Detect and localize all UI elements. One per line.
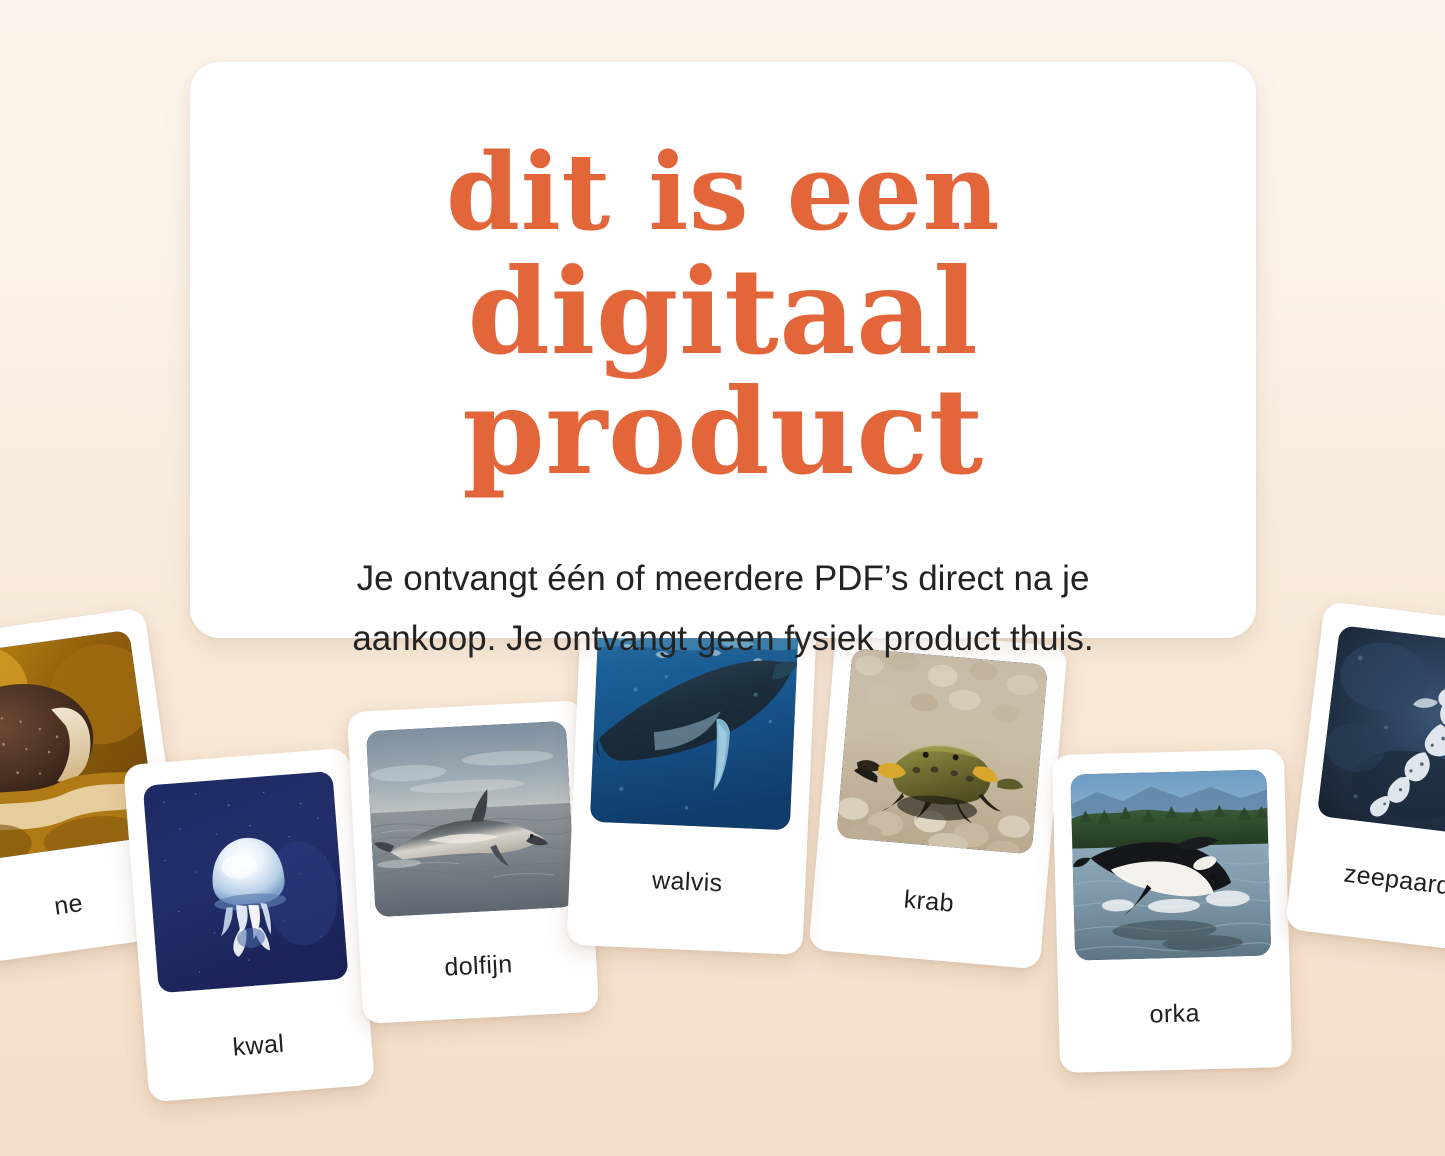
promo-description: Je ontvangt één of meerdere PDF’s direct…: [283, 549, 1163, 669]
flashcard-orka[interactable]: orka: [1052, 749, 1292, 1073]
flashcard-label: walvis: [651, 866, 723, 898]
promo-panel: dit is een digitaal product Je ontvangt …: [190, 62, 1256, 638]
flashcard-label: orka: [1149, 999, 1200, 1029]
poster-canvas: ne: [0, 0, 1445, 1156]
flashcard-label: kwal: [232, 1030, 286, 1063]
flashcard-krab[interactable]: krab: [808, 627, 1067, 970]
crab-photo: [836, 648, 1048, 854]
flashcard-label: dolfijn: [444, 950, 514, 983]
promo-description-line-1: Je ontvangt één of meerdere PDF’s direct…: [283, 549, 1163, 609]
page-title-line-2: digitaal product: [190, 252, 1256, 493]
promo-description-line-2: aankoop. Je ontvangt geen fysiek product…: [283, 609, 1163, 669]
flashcard-kwal[interactable]: kwal: [123, 748, 375, 1103]
flashcard-label: krab: [903, 885, 956, 918]
orca-photo: [1070, 769, 1271, 960]
page-title-line-1: dit is een: [190, 138, 1256, 246]
seahorse-photo: [1317, 625, 1445, 839]
flashcard-label: ne: [52, 889, 84, 922]
flashcard-zeepaardje[interactable]: zeepaardje: [1285, 601, 1445, 957]
dolphin-photo: [366, 721, 575, 917]
page-title: dit is een digitaal product: [190, 138, 1256, 493]
jellyfish-photo: [143, 771, 349, 993]
flashcard-label: zeepaardje: [1342, 860, 1445, 904]
flashcard-dolfijn[interactable]: dolfijn: [347, 700, 599, 1024]
